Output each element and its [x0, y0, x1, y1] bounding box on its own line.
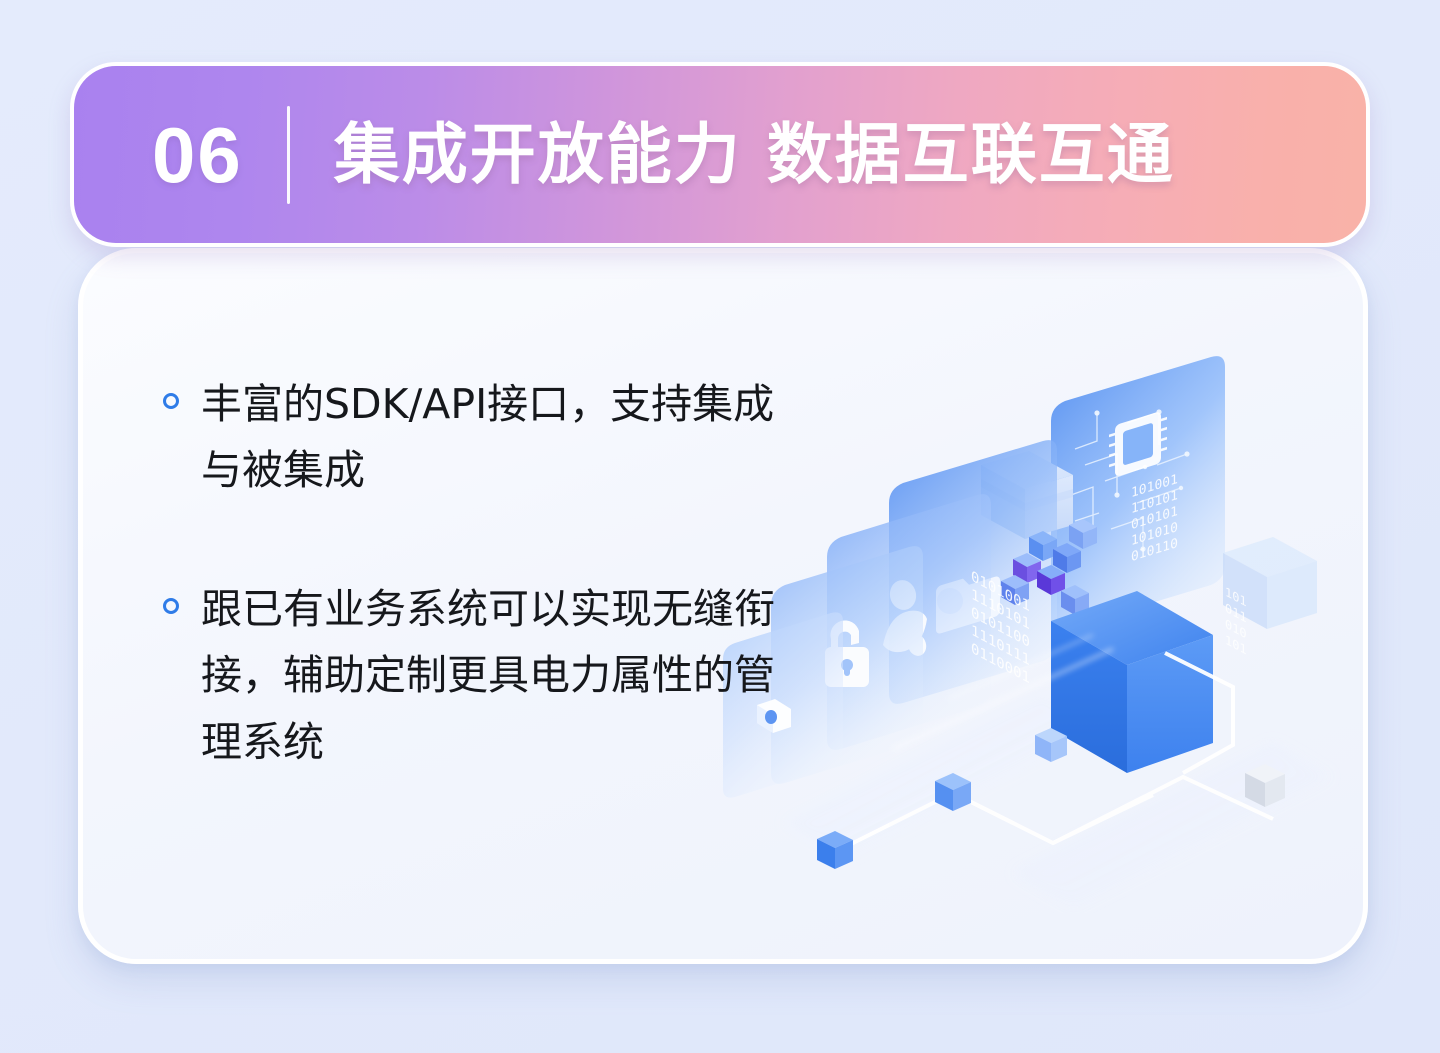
binary-stream-right: 101001 110101 010101 101010 010110	[1131, 472, 1178, 565]
node-cube-2	[935, 773, 971, 811]
svg-text:011: 011	[1225, 601, 1247, 627]
section-header-banner: 06 集成开放能力 数据互联互通	[70, 62, 1370, 247]
node-cube-3	[1035, 728, 1067, 762]
vertical-divider-icon	[287, 106, 290, 204]
binary-block: 101 011 010 101	[1223, 537, 1317, 659]
svg-text:101: 101	[1225, 633, 1247, 659]
processor-panel: 101001 110101 010101 101010 010110	[1051, 356, 1225, 630]
svg-text:101010: 101010	[1131, 520, 1178, 549]
folder-icon	[936, 567, 1000, 635]
storage-box	[981, 451, 1073, 539]
svg-text:010: 010	[1225, 617, 1247, 643]
bullet-list: 丰富的SDK/API接口，支持集成与被集成 跟已有业务系统可以实现无缝衔接，辅助…	[163, 371, 863, 847]
chip-icon	[1071, 412, 1187, 549]
content-card: 丰富的SDK/API接口，支持集成与被集成 跟已有业务系统可以实现无缝衔接，辅助…	[78, 248, 1368, 964]
user-icon	[883, 578, 929, 659]
section-number: 06	[152, 116, 243, 194]
node-cube-grey	[1245, 764, 1285, 807]
svg-text:1110111: 1110111	[971, 621, 1030, 669]
svg-text:0110001: 0110001	[971, 639, 1030, 687]
floor-glow	[783, 693, 1333, 909]
slide-canvas: 丰富的SDK/API接口，支持集成与被集成 跟已有业务系统可以实现无缝衔接，辅助…	[0, 0, 1440, 1053]
storage-panel	[889, 440, 1057, 704]
list-item: 跟已有业务系统可以实现无缝衔接，辅助定制更具电力属性的管理系统	[163, 576, 863, 775]
binary-stream: 0101001 1110101 0101100 1110111 0110001	[971, 567, 1030, 687]
data-cube	[1051, 591, 1213, 773]
svg-text:101: 101	[1225, 585, 1247, 611]
svg-text:1110101: 1110101	[971, 585, 1030, 633]
connector-lines	[833, 653, 1273, 853]
svg-text:010110: 010110	[1131, 536, 1178, 565]
list-item: 丰富的SDK/API接口，支持集成与被集成	[163, 371, 863, 504]
bullet-text: 丰富的SDK/API接口，支持集成与被集成	[201, 371, 811, 504]
bullet-circle-icon	[163, 393, 179, 409]
page-title: 集成开放能力 数据互联互通	[334, 122, 1175, 188]
bullet-text: 跟已有业务系统可以实现无缝衔接，辅助定制更具电力属性的管理系统	[201, 576, 811, 775]
data-nodes	[1001, 519, 1097, 615]
svg-text:110101: 110101	[1131, 488, 1178, 517]
bullet-circle-icon	[163, 598, 179, 614]
svg-text:010101: 010101	[1131, 504, 1178, 533]
svg-text:101001: 101001	[1131, 472, 1178, 501]
svg-text:0101100: 0101100	[971, 603, 1030, 651]
svg-text:0101001: 0101001	[971, 567, 1030, 615]
